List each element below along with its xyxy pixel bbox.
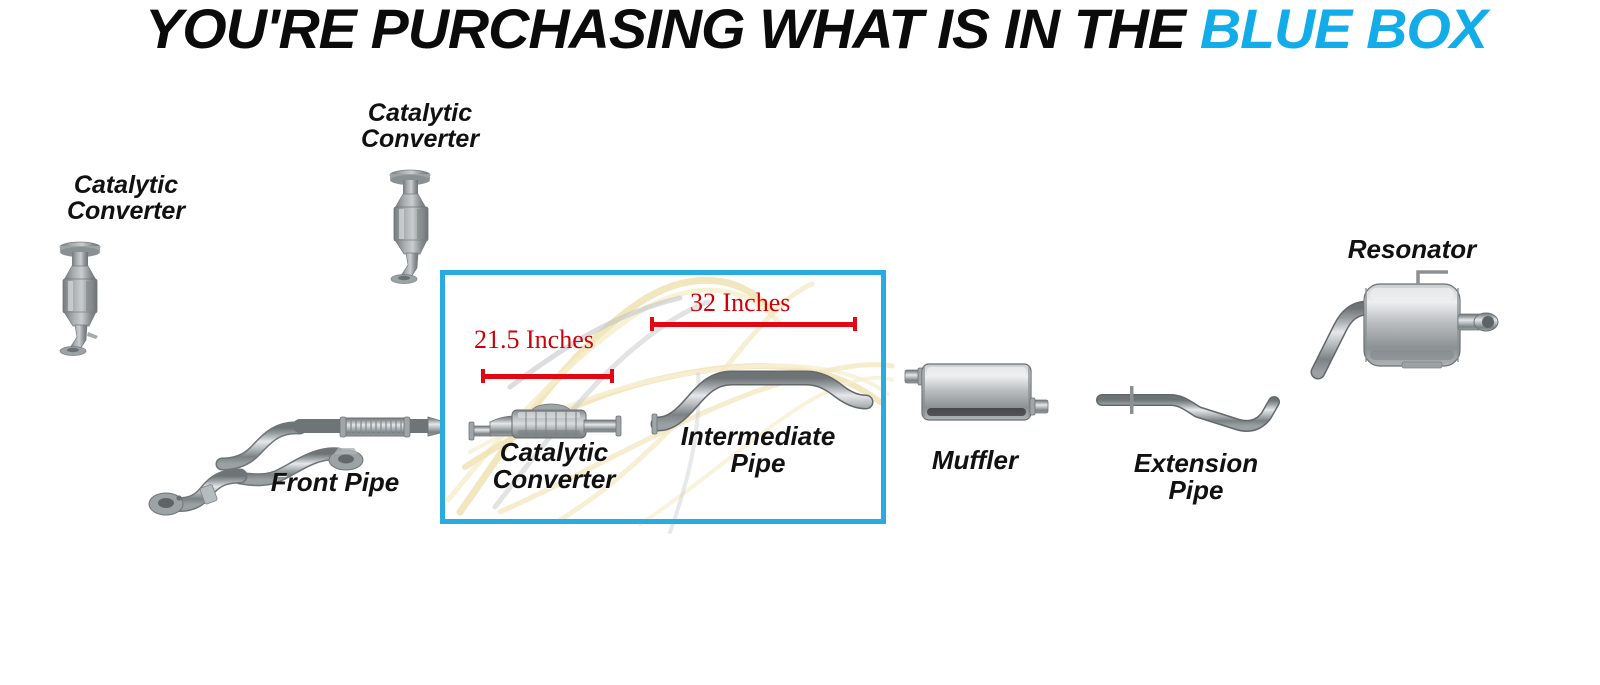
label-extension-pipe: Extension Pipe	[1108, 450, 1284, 505]
diagram-canvas: YOU'RE PURCHASING WHAT IS IN THE BLUE BO…	[0, 0, 1600, 685]
label-resonator: Resonator	[1322, 236, 1502, 263]
dimension-cap-right	[853, 317, 857, 331]
label-intermediate-pipe: Intermediate Pipe	[662, 423, 854, 478]
dimension-label-intermediate-pipe: 32 Inches	[690, 288, 790, 318]
muffler-graphic	[905, 356, 1051, 436]
page-title-blue: BLUE BOX	[1200, 0, 1487, 60]
dimension-cap-right	[610, 369, 614, 383]
page-title: YOU'RE PURCHASING WHAT IS IN THE BLUE BO…	[0, 0, 1600, 58]
label-front-pipe: Front Pipe	[250, 469, 420, 496]
resonator-graphic	[1306, 270, 1502, 386]
label-muffler: Muffler	[900, 447, 1050, 474]
label-catalytic-converter-1: Catalytic Converter	[36, 172, 216, 225]
dimension-line-intermediate-pipe	[650, 317, 857, 331]
dimension-label-catalytic-converter: 21.5 Inches	[474, 325, 594, 355]
label-catalytic-converter-3: Catalytic Converter	[466, 439, 642, 494]
catalytic-converter-2-graphic	[382, 168, 454, 284]
extension-pipe-graphic	[1098, 388, 1298, 448]
dimension-bar	[481, 374, 614, 379]
page-title-black: YOU'RE PURCHASING WHAT IS IN THE	[145, 0, 1200, 60]
label-catalytic-converter-2: Catalytic Converter	[330, 100, 510, 153]
intermediate-pipe-graphic	[648, 336, 872, 432]
dimension-line-catalytic-converter	[481, 369, 614, 383]
catalytic-converter-1-graphic	[52, 240, 126, 358]
dimension-bar	[650, 322, 857, 327]
